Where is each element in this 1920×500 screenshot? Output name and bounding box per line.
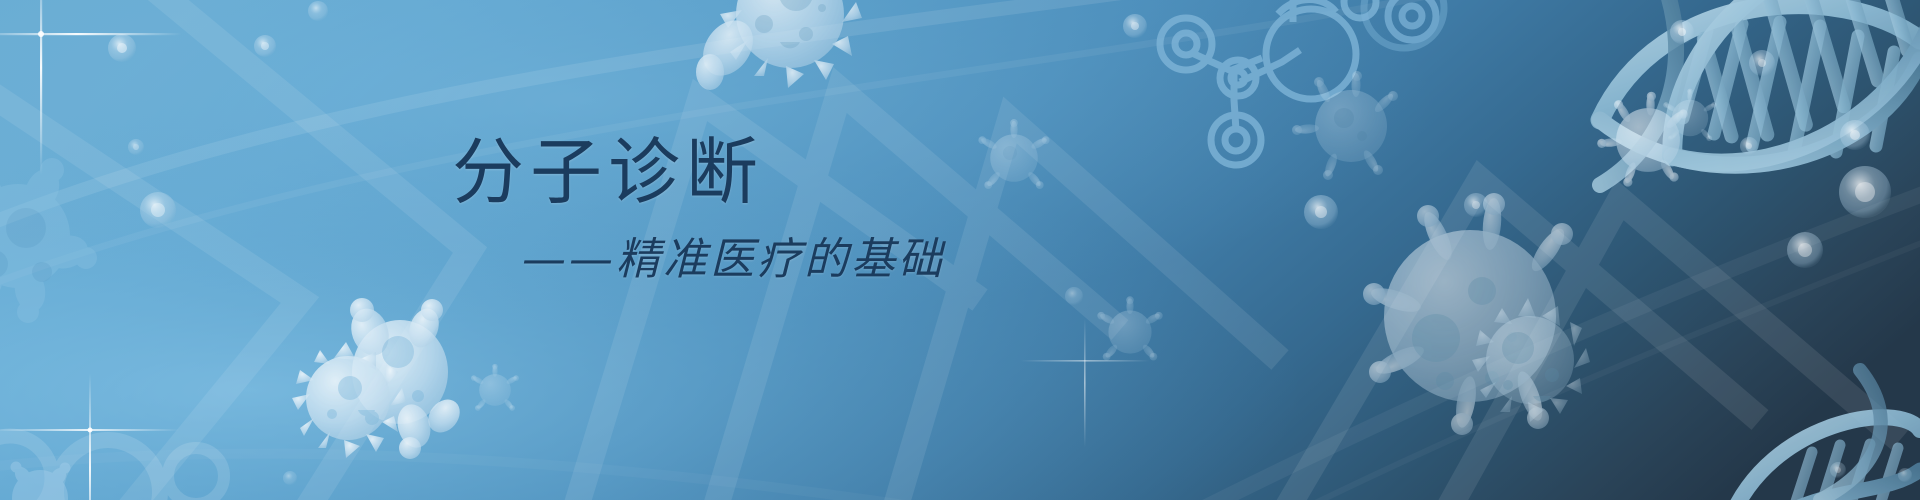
background-illustration (0, 0, 1920, 500)
banner-hero: 分子诊断 ——精准医疗的基础 (0, 0, 1920, 500)
